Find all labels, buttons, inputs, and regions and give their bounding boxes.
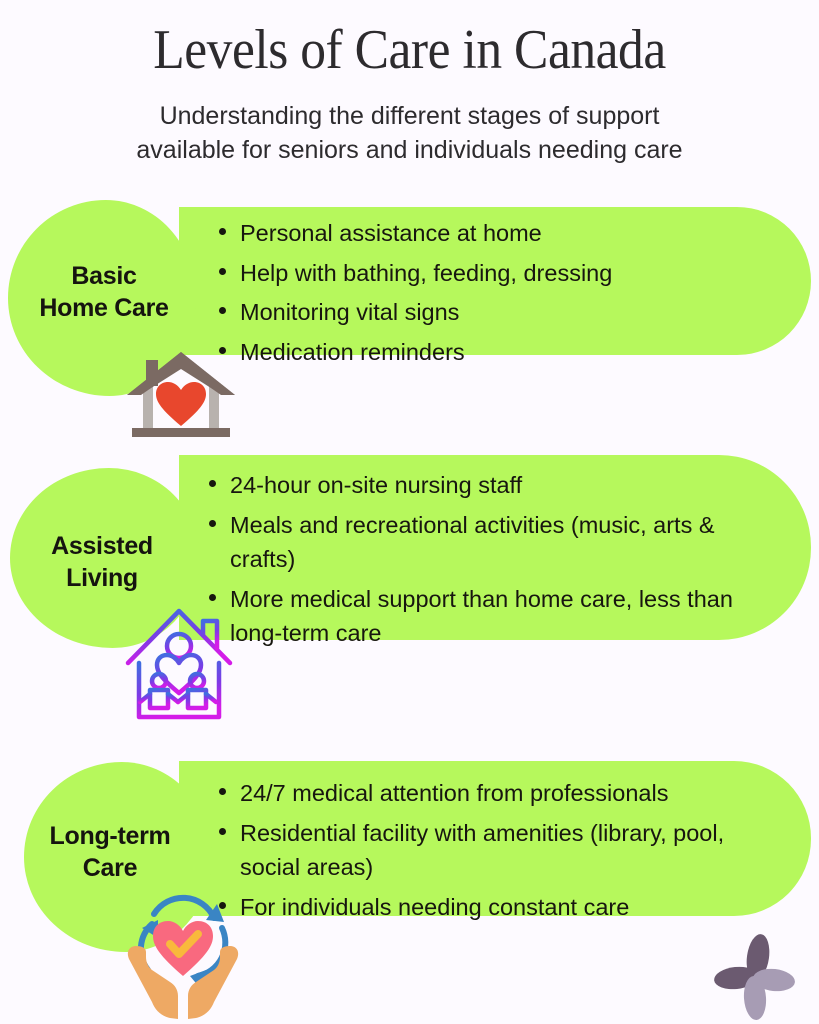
section-label-line-2: Living [12, 562, 192, 594]
section-label-line-2: Home Care [14, 292, 194, 324]
section-label-line-1: Long-term [20, 820, 200, 852]
section-basic-home-care: Basic Home Care Personal assistance at h… [0, 196, 819, 446]
list-item: More medical support than home care, les… [204, 582, 779, 651]
section-label: Assisted Living [12, 530, 192, 594]
four-petal-flower-icon [714, 934, 796, 1020]
header: Levels of Care in Canada Understanding t… [0, 0, 819, 168]
list-item: Medication reminders [214, 335, 774, 370]
list-item: For individuals needing constant care [214, 890, 770, 925]
page-title: Levels of Care in Canada [33, 0, 786, 78]
section-assisted-living: Assisted Living 24-hour on-site nursing … [0, 450, 819, 740]
section-long-term-care: Long-term Care 24/7 medical attention fr… [0, 756, 819, 1024]
section-label: Basic Home Care [14, 260, 194, 324]
bullet-list: 24/7 medical attention from professional… [214, 776, 770, 929]
page-subtitle: Understanding the different stages of su… [0, 78, 819, 168]
section-label-line-2: Care [20, 852, 200, 884]
house-with-family-icon [125, 601, 233, 725]
list-item: Residential facility with amenities (lib… [214, 816, 770, 885]
section-label-line-1: Basic [14, 260, 194, 292]
bullet-list: 24-hour on-site nursing staff Meals and … [204, 468, 779, 656]
hands-holding-heart-icon [118, 884, 248, 1022]
list-item: 24/7 medical attention from professional… [214, 776, 770, 811]
house-with-heart-icon [122, 348, 240, 438]
list-item: 24-hour on-site nursing staff [204, 468, 779, 503]
subtitle-line-1: Understanding the different stages of su… [0, 100, 819, 134]
list-item: Monitoring vital signs [214, 295, 774, 330]
section-label: Long-term Care [20, 820, 200, 884]
list-item: Meals and recreational activities (music… [204, 508, 779, 577]
section-label-line-1: Assisted [12, 530, 192, 562]
infographic-page: Levels of Care in Canada Understanding t… [0, 0, 819, 1024]
bullet-list: Personal assistance at home Help with ba… [214, 216, 774, 374]
list-item: Personal assistance at home [214, 216, 774, 251]
subtitle-line-2: available for seniors and individuals ne… [0, 134, 819, 168]
list-item: Help with bathing, feeding, dressing [214, 256, 774, 291]
